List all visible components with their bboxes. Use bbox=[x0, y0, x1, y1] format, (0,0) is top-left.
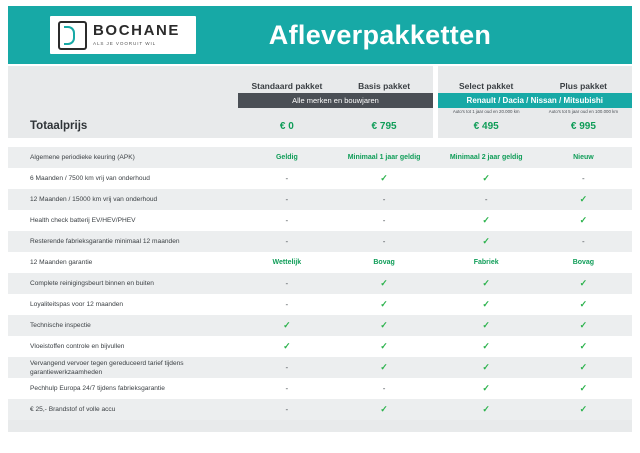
cell-0: - bbox=[238, 210, 335, 231]
price-basis: € 795 bbox=[335, 116, 432, 138]
dash-icon: - bbox=[286, 237, 289, 246]
cell-2: ✓ bbox=[438, 273, 535, 294]
package-name-basis: Basis pakket bbox=[335, 76, 432, 93]
cell-2: ✓ bbox=[438, 315, 535, 336]
cell-0: Geldig bbox=[238, 147, 335, 168]
check-icon: ✓ bbox=[580, 341, 588, 351]
dash-icon: - bbox=[582, 237, 585, 246]
check-icon: ✓ bbox=[380, 278, 388, 288]
dash-icon: - bbox=[286, 216, 289, 225]
check-icon: ✓ bbox=[482, 278, 490, 288]
empty-corner bbox=[8, 76, 238, 93]
feature-rows: Algemene periodieke keuring (APK)GeldigM… bbox=[8, 147, 632, 420]
cell-2: ✓ bbox=[438, 357, 535, 378]
cell-3: ✓ bbox=[535, 315, 632, 336]
cell-1: Minimaal 1 jaar geldig bbox=[335, 147, 432, 168]
dash-icon: - bbox=[286, 195, 289, 204]
table-row: Health check batterij EV/HEV/PHEV--✓✓ bbox=[8, 210, 632, 231]
cell-text: Minimaal 2 jaar geldig bbox=[450, 154, 523, 161]
package-subnote-row: Auto's tot 1 jaar oud en 20.000 km Auto'… bbox=[8, 108, 632, 116]
cell-0: - bbox=[238, 399, 335, 420]
cell-3: ✓ bbox=[535, 336, 632, 357]
totaalprijs-row: Totaalprijs € 0 € 795 € 495 € 995 bbox=[8, 116, 632, 138]
packages-table: Standaard pakket Basis pakket Select pak… bbox=[8, 66, 632, 420]
check-icon: ✓ bbox=[580, 320, 588, 330]
table-row: 12 Maanden garantieWettelijkBovagFabriek… bbox=[8, 252, 632, 273]
check-icon: ✓ bbox=[283, 320, 291, 330]
cell-3: - bbox=[535, 168, 632, 189]
check-icon: ✓ bbox=[380, 362, 388, 372]
cell-3: ✓ bbox=[535, 189, 632, 210]
table-row: Algemene periodieke keuring (APK)GeldigM… bbox=[8, 147, 632, 168]
empty-corner-3 bbox=[8, 108, 238, 116]
afleverpakketten-page: BOCHANE ALS JE VOORUIT WIL Afleverpakket… bbox=[0, 0, 640, 453]
check-icon: ✓ bbox=[482, 236, 490, 246]
table-row: Resterende fabrieksgarantie minimaal 12 … bbox=[8, 231, 632, 252]
package-name-row: Standaard pakket Basis pakket Select pak… bbox=[8, 76, 632, 93]
feature-label: Resterende fabrieksgarantie minimaal 12 … bbox=[8, 231, 238, 252]
cell-2: ✓ bbox=[438, 231, 535, 252]
subnote-plus: Auto's tot 5 jaar oud en 100.000 km bbox=[535, 108, 632, 116]
feature-label: Pechhulp Europa 24/7 tijdens fabrieksgar… bbox=[8, 378, 238, 399]
check-icon: ✓ bbox=[283, 341, 291, 351]
check-icon: ✓ bbox=[580, 362, 588, 372]
cell-3: ✓ bbox=[535, 273, 632, 294]
cell-text: Wettelijk bbox=[273, 259, 302, 266]
table-row: 12 Maanden / 15000 km vrij van onderhoud… bbox=[8, 189, 632, 210]
cell-3: Nieuw bbox=[535, 147, 632, 168]
subbar-alle-merken: Alle merken en bouwjaren bbox=[238, 93, 432, 108]
cell-1: - bbox=[335, 231, 432, 252]
check-icon: ✓ bbox=[580, 194, 588, 204]
cell-3: ✓ bbox=[535, 210, 632, 231]
cell-2: ✓ bbox=[438, 378, 535, 399]
subnote-standaard bbox=[238, 108, 335, 116]
table-row: 6 Maanden / 7500 km vrij van onderhoud-✓… bbox=[8, 168, 632, 189]
check-icon: ✓ bbox=[482, 320, 490, 330]
cell-1: - bbox=[335, 210, 432, 231]
dash-icon: - bbox=[383, 216, 386, 225]
feature-label: Vloeistoffen controle en bijvullen bbox=[8, 336, 238, 357]
feature-label: Health check batterij EV/HEV/PHEV bbox=[8, 210, 238, 231]
cell-1: ✓ bbox=[335, 357, 432, 378]
check-icon: ✓ bbox=[380, 320, 388, 330]
check-icon: ✓ bbox=[482, 299, 490, 309]
cell-1: Bovag bbox=[335, 252, 432, 273]
cell-2: ✓ bbox=[438, 210, 535, 231]
package-subbar-row: Alle merken en bouwjaren Renault / Dacia… bbox=[8, 93, 632, 108]
cell-2: ✓ bbox=[438, 399, 535, 420]
totaalprijs-label: Totaalprijs bbox=[8, 116, 238, 138]
cell-text: Nieuw bbox=[573, 154, 594, 161]
cell-1: ✓ bbox=[335, 315, 432, 336]
table-row: Pechhulp Europa 24/7 tijdens fabrieksgar… bbox=[8, 378, 632, 399]
cell-1: - bbox=[335, 378, 432, 399]
cell-text: Minimaal 1 jaar geldig bbox=[348, 154, 421, 161]
cell-0: - bbox=[238, 357, 335, 378]
cell-0: - bbox=[238, 168, 335, 189]
page-title: Afleverpakketten bbox=[8, 20, 632, 51]
cell-1: - bbox=[335, 189, 432, 210]
feature-label: Loyaliteitspas voor 12 maanden bbox=[8, 294, 238, 315]
check-icon: ✓ bbox=[482, 173, 490, 183]
table-row: Technische inspectie✓✓✓✓ bbox=[8, 315, 632, 336]
cell-text: Bovag bbox=[573, 259, 594, 266]
feature-label: 12 Maanden garantie bbox=[8, 252, 238, 273]
dash-icon: - bbox=[582, 174, 585, 183]
footer-band bbox=[8, 420, 632, 432]
cell-0: - bbox=[238, 294, 335, 315]
cell-text: Geldig bbox=[276, 154, 298, 161]
table-row: € 25,- Brandstof of volle accu-✓✓✓ bbox=[8, 399, 632, 420]
cell-1: ✓ bbox=[335, 273, 432, 294]
feature-label: Algemene periodieke keuring (APK) bbox=[8, 147, 238, 168]
cell-1: ✓ bbox=[335, 336, 432, 357]
package-name-select: Select pakket bbox=[438, 76, 535, 93]
package-name-plus: Plus pakket bbox=[535, 76, 632, 93]
cell-2: Minimaal 2 jaar geldig bbox=[438, 147, 535, 168]
feature-label: 12 Maanden / 15000 km vrij van onderhoud bbox=[8, 189, 238, 210]
dash-icon: - bbox=[485, 195, 488, 204]
dash-icon: - bbox=[383, 384, 386, 393]
cell-0: - bbox=[238, 273, 335, 294]
dash-icon: - bbox=[286, 363, 289, 372]
subnote-basis bbox=[335, 108, 432, 116]
cell-text: Bovag bbox=[373, 259, 394, 266]
check-icon: ✓ bbox=[580, 278, 588, 288]
cell-2: ✓ bbox=[438, 168, 535, 189]
cell-3: ✓ bbox=[535, 399, 632, 420]
cell-1: ✓ bbox=[335, 399, 432, 420]
check-icon: ✓ bbox=[380, 404, 388, 414]
empty-corner-2 bbox=[8, 93, 238, 108]
check-icon: ✓ bbox=[482, 215, 490, 225]
dash-icon: - bbox=[383, 195, 386, 204]
check-icon: ✓ bbox=[482, 404, 490, 414]
cell-0: ✓ bbox=[238, 315, 335, 336]
table-row: Vloeistoffen controle en bijvullen✓✓✓✓ bbox=[8, 336, 632, 357]
cell-2: ✓ bbox=[438, 336, 535, 357]
row-spacer bbox=[8, 138, 632, 147]
feature-label: € 25,- Brandstof of volle accu bbox=[8, 399, 238, 420]
cell-2: Fabriek bbox=[438, 252, 535, 273]
check-icon: ✓ bbox=[580, 383, 588, 393]
cell-1: ✓ bbox=[335, 168, 432, 189]
cell-3: - bbox=[535, 231, 632, 252]
price-select: € 495 bbox=[438, 116, 535, 138]
package-name-standaard: Standaard pakket bbox=[238, 76, 335, 93]
cell-0: ✓ bbox=[238, 336, 335, 357]
subnote-select: Auto's tot 1 jaar oud en 20.000 km bbox=[438, 108, 535, 116]
price-plus: € 995 bbox=[535, 116, 632, 138]
cell-2: - bbox=[438, 189, 535, 210]
page-header: BOCHANE ALS JE VOORUIT WIL Afleverpakket… bbox=[8, 6, 632, 64]
price-standaard: € 0 bbox=[238, 116, 335, 138]
table-row: Vervangend vervoer tegen gereduceerd tar… bbox=[8, 357, 632, 378]
feature-label: Technische inspectie bbox=[8, 315, 238, 336]
check-icon: ✓ bbox=[482, 362, 490, 372]
cell-0: - bbox=[238, 378, 335, 399]
check-icon: ✓ bbox=[580, 215, 588, 225]
cell-3: ✓ bbox=[535, 294, 632, 315]
check-icon: ✓ bbox=[482, 341, 490, 351]
table-row: Complete reinigingsbeurt binnen en buite… bbox=[8, 273, 632, 294]
cell-0: Wettelijk bbox=[238, 252, 335, 273]
cell-text: Fabriek bbox=[474, 259, 499, 266]
cell-0: - bbox=[238, 231, 335, 252]
check-icon: ✓ bbox=[380, 299, 388, 309]
subbar-merken-teal: Renault / Dacia / Nissan / Mitsubishi bbox=[438, 93, 632, 108]
feature-label: 6 Maanden / 7500 km vrij van onderhoud bbox=[8, 168, 238, 189]
cell-2: ✓ bbox=[438, 294, 535, 315]
cell-3: Bovag bbox=[535, 252, 632, 273]
check-icon: ✓ bbox=[580, 299, 588, 309]
feature-label: Complete reinigingsbeurt binnen en buite… bbox=[8, 273, 238, 294]
dash-icon: - bbox=[286, 279, 289, 288]
cell-3: ✓ bbox=[535, 357, 632, 378]
table-top-band bbox=[8, 66, 632, 76]
check-icon: ✓ bbox=[482, 383, 490, 393]
cell-1: ✓ bbox=[335, 294, 432, 315]
feature-label: Vervangend vervoer tegen gereduceerd tar… bbox=[8, 357, 238, 378]
dash-icon: - bbox=[286, 384, 289, 393]
cell-3: ✓ bbox=[535, 378, 632, 399]
dash-icon: - bbox=[383, 237, 386, 246]
dash-icon: - bbox=[286, 174, 289, 183]
table-row: Loyaliteitspas voor 12 maanden-✓✓✓ bbox=[8, 294, 632, 315]
check-icon: ✓ bbox=[380, 341, 388, 351]
cell-0: - bbox=[238, 189, 335, 210]
dash-icon: - bbox=[286, 405, 289, 414]
dash-icon: - bbox=[286, 300, 289, 309]
check-icon: ✓ bbox=[380, 173, 388, 183]
check-icon: ✓ bbox=[580, 404, 588, 414]
